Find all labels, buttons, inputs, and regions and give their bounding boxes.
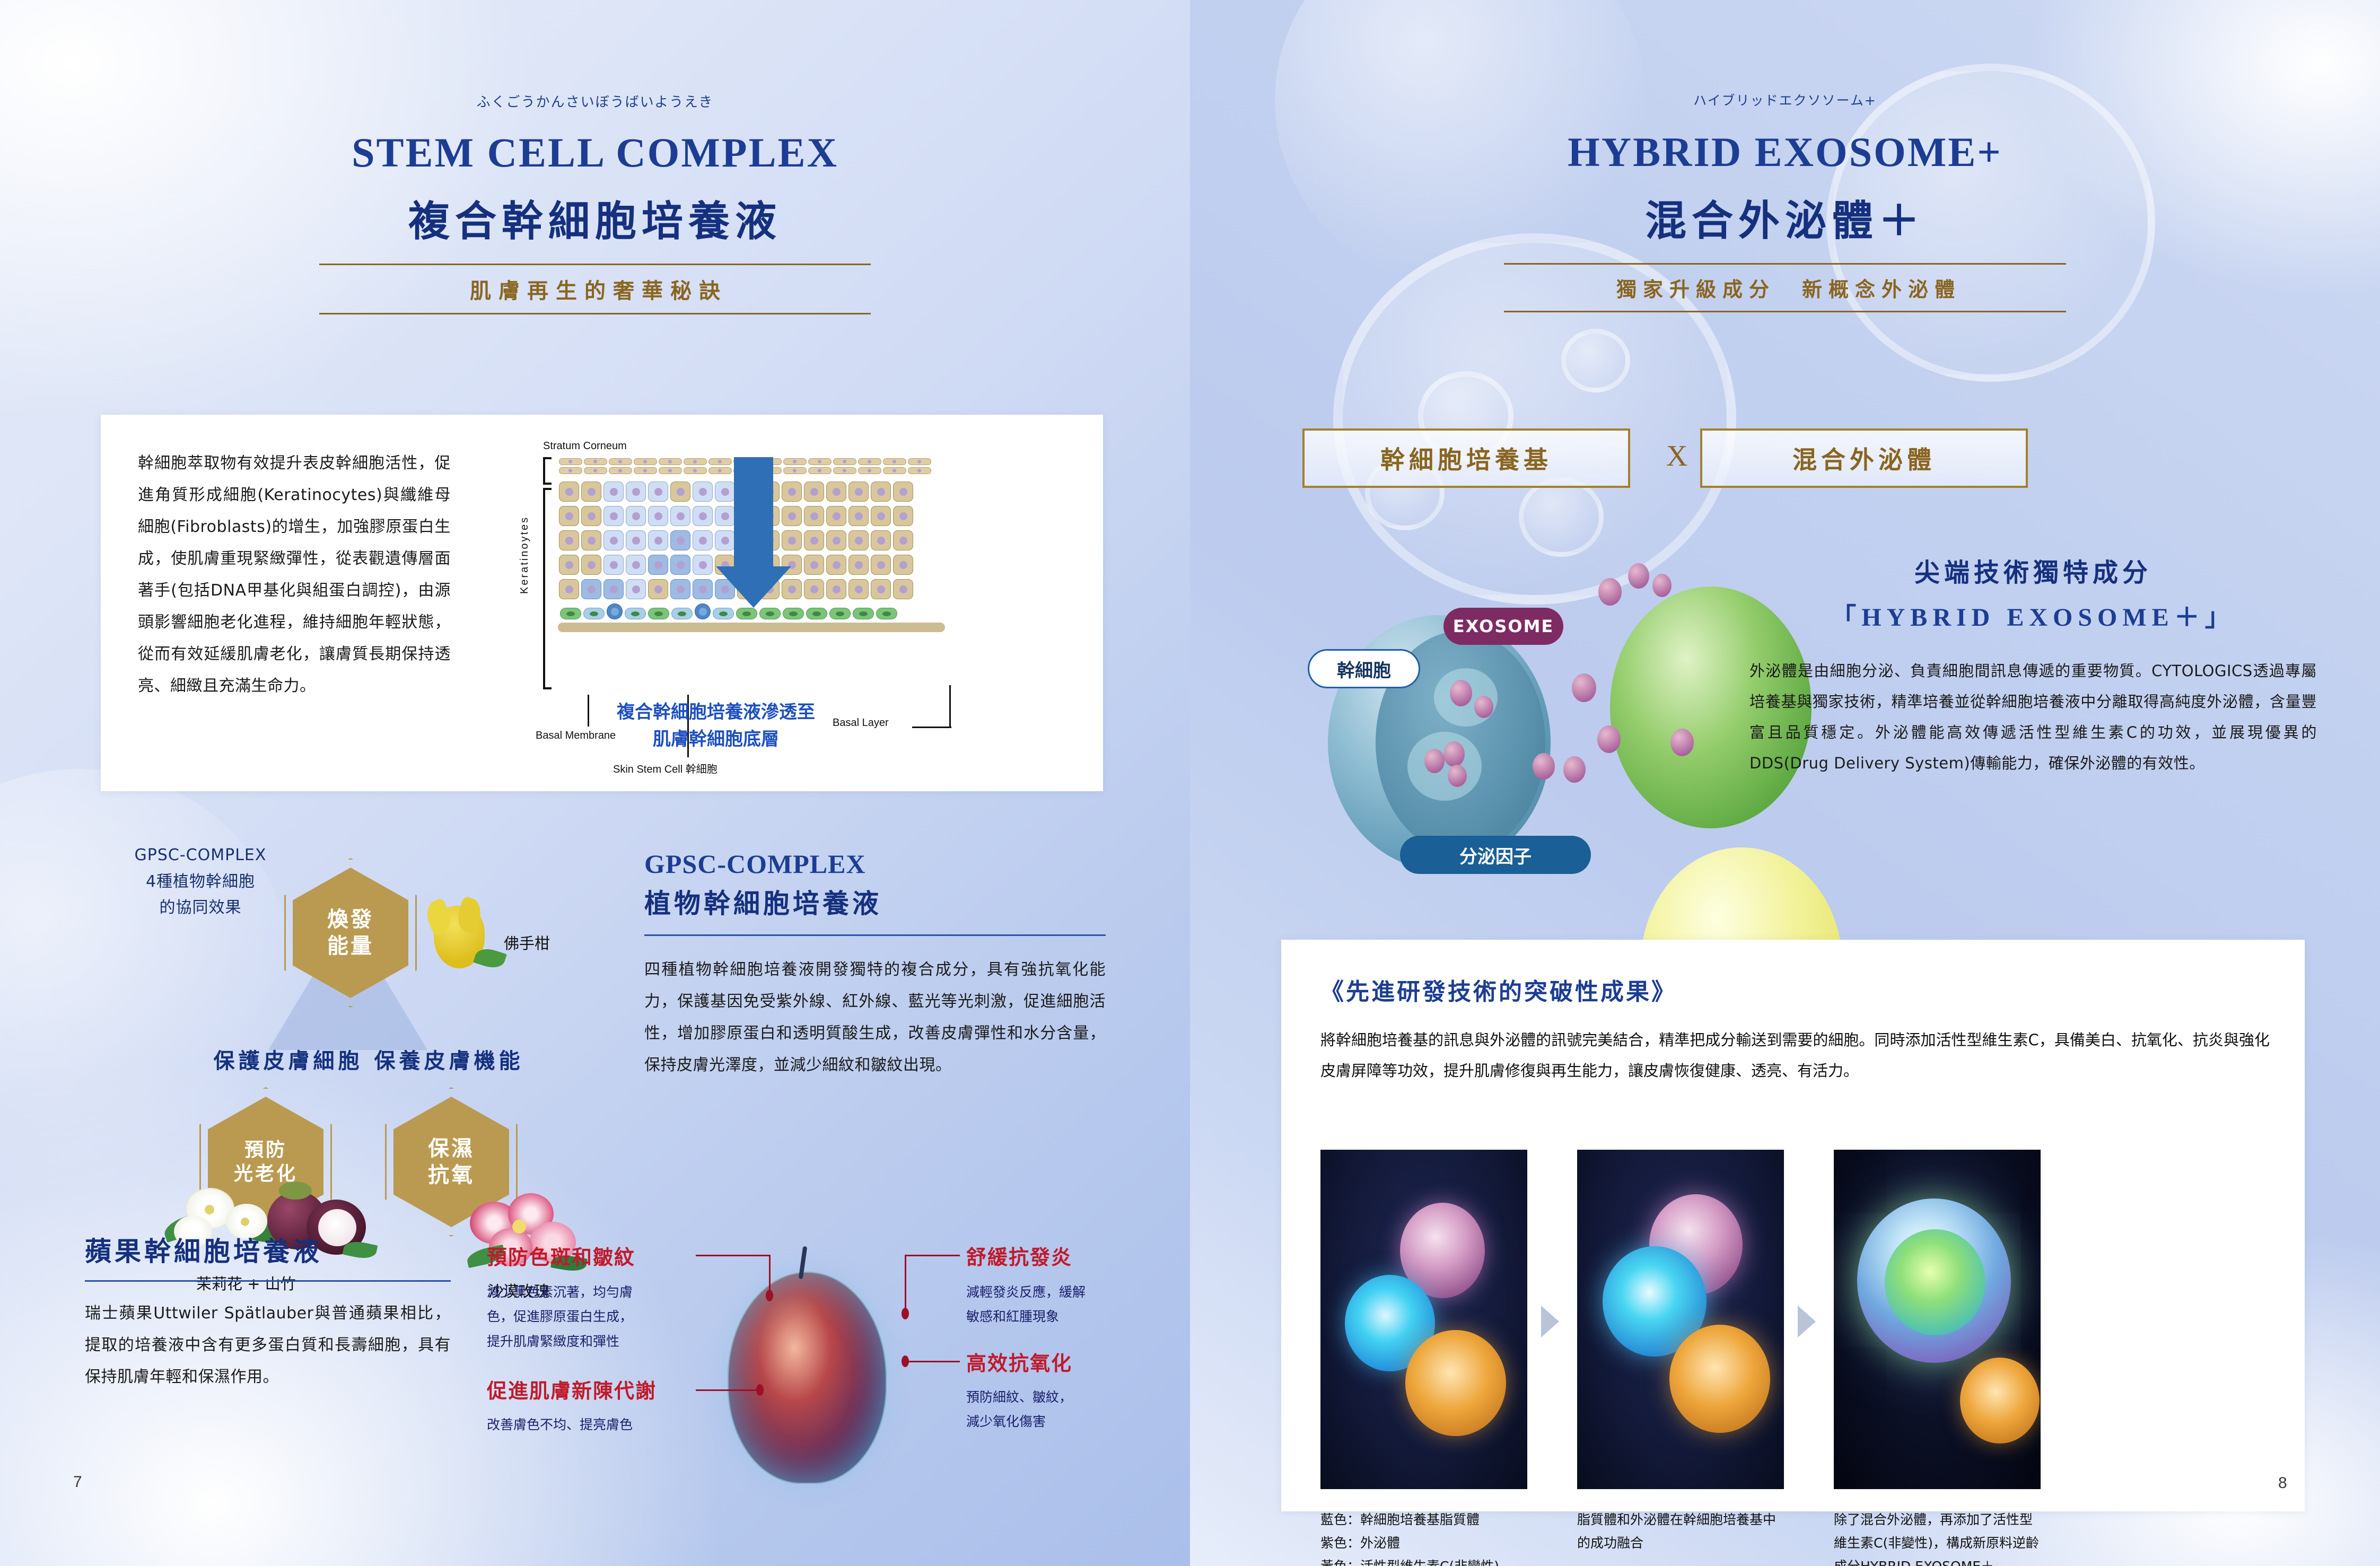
callout-2-l1: 減輕發炎反應，緩解 [966,1280,1152,1305]
right-kana: ハイブリッドエクソソーム+ [1190,90,2380,109]
gpsc-graphic: GPSC-COMPLEX 4種植物幹細胞 的協同效果 煥發 能量 預防 光老化 … [85,827,594,1198]
apple-heading: 蘋果幹細胞培養液 [85,1230,451,1268]
gpsc-tag-line1: 4種植物幹細胞 [94,869,307,895]
brace-corneum [543,457,552,485]
callout-4-line-h [905,1361,960,1362]
callout-4-l1: 預防細紋、皺紋， [966,1385,1152,1410]
apple-diagram: 預防色斑和皺紋 減少黑色素沉著，均勻膚 色，促進膠原蛋白生成， 提升肌膚緊緻度和… [456,1230,1161,1495]
result-arrow-2 [1798,1306,1816,1337]
apple-mesh [728,1272,887,1484]
panel-3-caption-1: 除了混合外泌體，再添加了活性型 [1834,1508,2072,1532]
hex-moisture-l1: 保濕 [428,1136,475,1161]
callout-2-dot [902,1308,909,1319]
left-page-number: 7 [73,1473,82,1491]
tech-heading-cn: 尖端技術獨特成分 [1749,552,2317,589]
label-exosome-pill: EXOSOME [1443,608,1563,645]
callout-4-dot [902,1355,909,1367]
left-kana: ふくごうかんさいぼうばいようえき [0,91,1190,111]
panel-1-caption-1: 藍色：幹細胞培養基脂質體 [1320,1508,1548,1532]
right-page-number: 8 [2278,1474,2287,1492]
tech-heading-en: 「HYBRID EXOSOME＋」 [1749,596,2317,633]
result-panel-2 [1577,1150,1784,1489]
tech-paragraph: 外泌體是由細胞分泌、負責細胞間訊息傳遞的重要物質。CYTOLOGICS透過專屬培… [1749,655,2317,778]
result-arrow-1 [1541,1306,1559,1337]
right-gold-rule-bottom [1504,311,2066,312]
decorative-bubble-c [1561,329,1630,392]
left-title-cn: 複合幹細胞培養液 [0,188,1190,248]
results-paragraph: 將幹細胞培養基的訊息與外泌體的訊號完美結合，精準把成分輸送到需要的細胞。同時添加… [1320,1025,2270,1086]
callout-3-dot [756,1384,764,1396]
gpsc-paragraph: 四種植物幹細胞培養液開發獨特的複合成分，具有強抗氧化能力，保護基因免受紫外線、紅… [644,954,1106,1081]
left-title-en: STEM CELL COMPLEX [0,129,1190,177]
callout-1-l1: 減少黑色素沉著，均勻膚 [487,1280,710,1305]
formula-box-left: 幹細胞培養基 [1302,428,1630,488]
panel-2-caption-2: 的成功融合 [1577,1532,1810,1555]
apple-divider [85,1280,451,1282]
penetration-arrow-head [716,566,791,608]
gpsc-center-text: 保護皮膚細胞 保養皮膚機能 [154,1044,583,1074]
callout-1-dot [766,1290,773,1301]
magazine-spread: ふくごうかんさいぼうばいようえき STEM CELL COMPLEX 複合幹細胞… [0,0,2380,1566]
label-stem-cell-pill: 幹細胞 [1308,649,1420,688]
apple-text-block: 蘋果幹細胞培養液 瑞士蘋果Uttwiler Spätlauber與普通蘋果相比，… [85,1230,451,1393]
panel-3-caption-3: 成分HYBRID EXOSOME＋ [1834,1555,2072,1566]
callout-2-line-h [905,1255,960,1256]
callout-1-l2: 色，促進膠原蛋白生成， [487,1305,710,1329]
callout-2-line-v [905,1255,906,1311]
leader-basal-layer-v [949,685,951,728]
gpsc-heading-cn: 植物幹細胞培養液 [644,882,1106,921]
left-page: ふくごうかんさいぼうばいようえき STEM CELL COMPLEX 複合幹細胞… [0,0,1190,1566]
right-page: ハイブリッドエクソソーム+ HYBRID EXOSOME+ 混合外泌體＋ 獨家升… [1190,0,2380,1566]
brace-keratinocytes [543,488,552,689]
callout-3-line-h [696,1389,759,1391]
apple-paragraph: 瑞士蘋果Uttwiler Spätlauber與普通蘋果相比，提取的培養液中含有… [85,1298,451,1393]
gpsc-text-block: GPSC-COMPLEX 植物幹細胞培養液 四種植物幹細胞培養液開發獨特的複合成… [644,848,1106,1081]
right-title-cn: 混合外泌體＋ [1190,188,2380,247]
label-secretion-factor-pill: 分泌因子 [1400,836,1591,874]
result-panel-1 [1320,1150,1527,1489]
gpsc-heading-en: GPSC-COMPLEX [644,848,1106,879]
hex-energy-l2: 能量 [327,933,374,958]
panel-1-caption-2: 紫色：外泌體 [1320,1532,1548,1555]
label-keratinocytes: Keratinoytes [519,516,531,594]
callout-2-l2: 敏感和紅腫現象 [966,1305,1152,1329]
callout-1-line-v [769,1255,771,1294]
callout-4-l2: 減少氧化傷害 [966,1410,1152,1434]
left-header: ふくごうかんさいぼうばいようえき STEM CELL COMPLEX 複合幹細胞… [0,91,1190,314]
right-title-en: HYBRID EXOSOME+ [1190,128,2380,176]
formula-operator: X [1666,439,1687,473]
vesicle-2 [1407,732,1482,801]
right-header: ハイブリッドエクソソーム+ HYBRID EXOSOME+ 混合外泌體＋ 獨家升… [1190,90,2380,312]
callout-2-title: 舒緩抗發炎 [966,1241,1072,1270]
callout-4-title: 高效抗氧化 [966,1347,1072,1376]
hex-energy-l1: 煥發 [327,907,374,932]
panel-3-caption-2: 維生素C(非變性)，構成新原料逆齡 [1834,1532,2072,1555]
results-card: 《先進研發技術的突破性成果》 將幹細胞培養基的訊息與外泌體的訊號完美結合，精準把… [1281,940,2305,1511]
left-subtitle: 肌膚再生的奢華秘訣 [319,265,871,313]
label-stratum-corneum: Stratum Corneum [543,440,627,452]
tech-block: 尖端技術獨特成分 「HYBRID EXOSOME＋」 外泌體是由細胞分泌、負責細… [1749,552,2317,778]
callout-1-l3: 提升肌膚緊緻度和彈性 [487,1329,710,1354]
formula-box-right: 混合外泌體 [1700,428,2028,488]
bergamot-illustration [424,900,504,985]
penetration-arrow-shaft [734,457,773,567]
callout-3-title: 促進肌膚新陳代謝 [487,1375,657,1404]
hex-photoaging-l1: 預防 [244,1139,287,1161]
callout-1-line-h [696,1255,770,1256]
intro-card: 幹細胞萃取物有效提升表皮幹細胞活性，促進角質形成細胞(Keratinocytes… [101,415,1103,791]
label-skin-stem-cell: Skin Stem Cell 幹細胞 [613,760,717,776]
intro-paragraph: 幹細胞萃取物有效提升表皮幹細胞活性，促進角質形成細胞(Keratinocytes… [138,448,451,702]
skin-caption-line2: 肌膚幹細胞底層 [578,726,854,753]
skin-caption-line1: 複合幹細胞培養液滲透至 [578,699,854,726]
right-subtitle: 獨家升級成分 新概念外泌體 [1504,265,2066,311]
callout-1-title: 預防色斑和皺紋 [487,1241,635,1270]
gpsc-divider [644,934,1106,936]
gpsc-tag-title: GPSC-COMPLEX [94,842,307,869]
callout-3-l1: 改善膚色不均、提亮膚色 [487,1413,710,1437]
panel-1-caption-3: 黃色：活性型維生素C(非變性) [1320,1555,1548,1566]
gold-rule-bottom [319,313,871,314]
panel-2-caption-1: 脂質體和外泌體在幹細胞培養基中 [1577,1508,1810,1532]
results-heading: 《先進研發技術的突破性成果》 [1320,973,1677,1007]
label-bergamot: 佛手柑 [504,931,550,953]
leader-basal-layer-h [912,727,951,728]
skin-cell-stack [558,457,945,696]
hex-moisture-l2: 抗氧 [428,1162,475,1187]
result-panel-3 [1834,1150,2041,1489]
